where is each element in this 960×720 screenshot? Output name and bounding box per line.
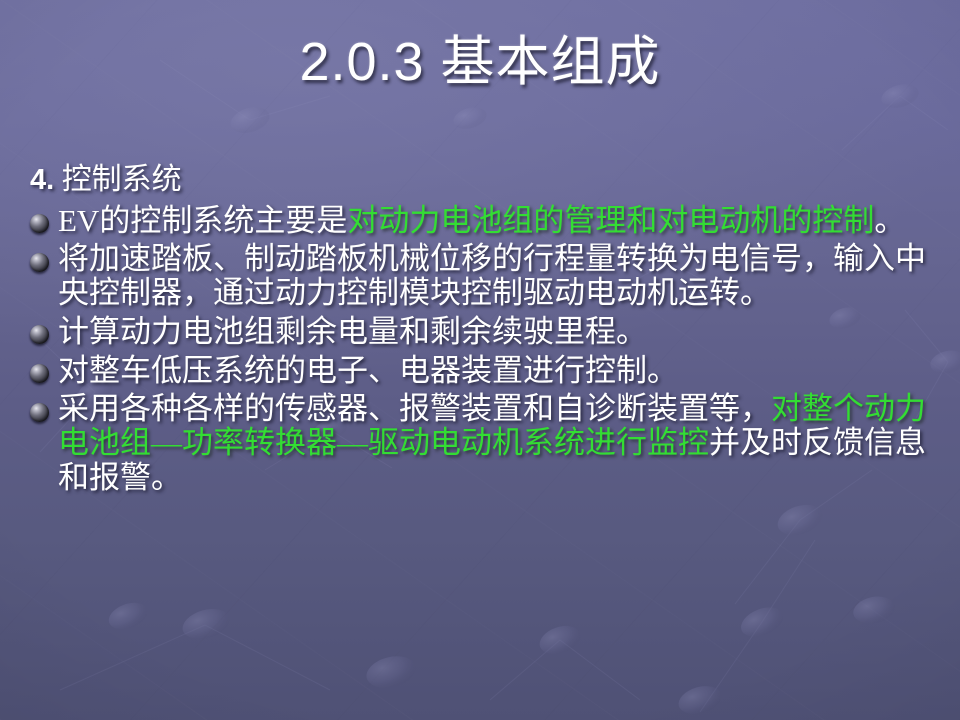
text-run: 将加速踏板、制动踏板机械位移的行程量转换为电信号，输入中央控制器，通过动力控制模… bbox=[58, 241, 926, 310]
list-item: 计算动力电池组剩余电量和剩余续驶里程。 bbox=[22, 313, 938, 350]
sphere-bullet-icon bbox=[30, 325, 49, 344]
sphere-bullet-icon bbox=[30, 253, 49, 272]
text-run: 计算动力电池组剩余电量和剩余续驶里程。 bbox=[58, 314, 647, 349]
page-title: 2.0.3 基本组成 bbox=[299, 34, 660, 91]
slide-canvas: 2.0.3 基本组成 4. 控制系统 EV的控制系统主要是对动力电池组的管理和对… bbox=[0, 0, 960, 720]
text-run: EV的控制系统主要是 bbox=[58, 203, 347, 238]
text-run: 采用各种各样的传感器、报警装置和自诊断装置等， bbox=[58, 391, 771, 426]
section-heading: 4. 控制系统 bbox=[30, 162, 938, 198]
sphere-bullet-icon bbox=[30, 214, 49, 233]
list-item: 采用各种各样的传感器、报警装置和自诊断装置等，对整个动力电池组—功率转换器—驱动… bbox=[22, 391, 938, 495]
list-item: 对整车低压系统的电子、电器装置进行控制。 bbox=[22, 352, 938, 389]
list-item-text: 计算动力电池组剩余电量和剩余续驶里程。 bbox=[58, 313, 938, 350]
list-item-text: 对整车低压系统的电子、电器装置进行控制。 bbox=[58, 352, 938, 389]
text-run: 对整车低压系统的电子、电器装置进行控制。 bbox=[58, 353, 678, 388]
slide-title-bar: 2.0.3 基本组成 bbox=[0, 34, 960, 120]
list-item-text: 采用各种各样的传感器、报警装置和自诊断装置等，对整个动力电池组—功率转换器—驱动… bbox=[58, 391, 938, 495]
sphere-bullet-icon bbox=[30, 364, 49, 383]
list-item: 将加速踏板、制动踏板机械位移的行程量转换为电信号，输入中央控制器，通过动力控制模… bbox=[22, 241, 938, 311]
list-item-text: 将加速踏板、制动踏板机械位移的行程量转换为电信号，输入中央控制器，通过动力控制模… bbox=[58, 241, 938, 311]
section-heading-label: 控制系统 bbox=[62, 163, 182, 196]
section-heading-number: 4. bbox=[30, 164, 54, 196]
sphere-bullet-icon bbox=[30, 403, 49, 422]
list-item: EV的控制系统主要是对动力电池组的管理和对电动机的控制。 bbox=[22, 202, 938, 239]
text-run: 。 bbox=[874, 203, 905, 238]
highlight-text-run: 对动力电池组的管理和对电动机的控制 bbox=[347, 203, 874, 238]
list-item-text: EV的控制系统主要是对动力电池组的管理和对电动机的控制。 bbox=[58, 202, 938, 239]
slide-body: 4. 控制系统 EV的控制系统主要是对动力电池组的管理和对电动机的控制。 将加速… bbox=[22, 162, 938, 497]
